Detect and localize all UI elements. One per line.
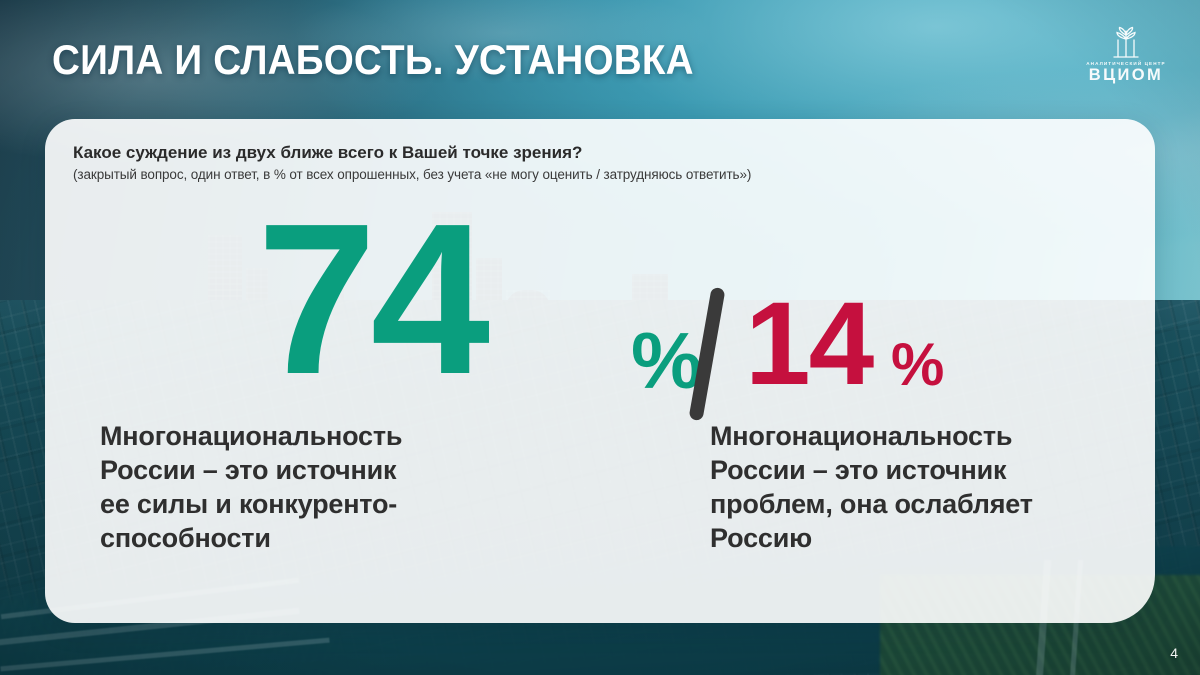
primary-value: 74 (257, 191, 484, 406)
card-inner: Какое суждение из двух ближе всего к Ваш… (45, 119, 1155, 623)
figures-row: 74 % 14 % (45, 199, 1155, 429)
slide: СИЛА И СЛАБОСТЬ. УСТАНОВКА АНАЛИТИЧЕСКИЙ… (0, 0, 1200, 675)
tree-icon (1106, 26, 1146, 60)
vciom-logo: АНАЛИТИЧЕСКИЙ ЦЕНТР ВЦИОМ (1070, 26, 1182, 88)
page-number: 4 (1170, 645, 1178, 661)
secondary-value: 14 (745, 285, 872, 403)
page-title: СИЛА И СЛАБОСТЬ. УСТАНОВКА (52, 36, 694, 84)
content-card: Какое суждение из двух ближе всего к Ваш… (45, 119, 1155, 623)
secondary-percent-symbol: % (891, 335, 944, 395)
secondary-statement: Многонациональность России – это источни… (710, 419, 1140, 555)
primary-percent-symbol: % (631, 321, 702, 401)
logo-name: ВЦИОМ (1089, 67, 1163, 84)
primary-statement: Многонациональность России – это источни… (100, 419, 530, 555)
question-title: Какое суждение из двух ближе всего к Ваш… (73, 143, 582, 163)
